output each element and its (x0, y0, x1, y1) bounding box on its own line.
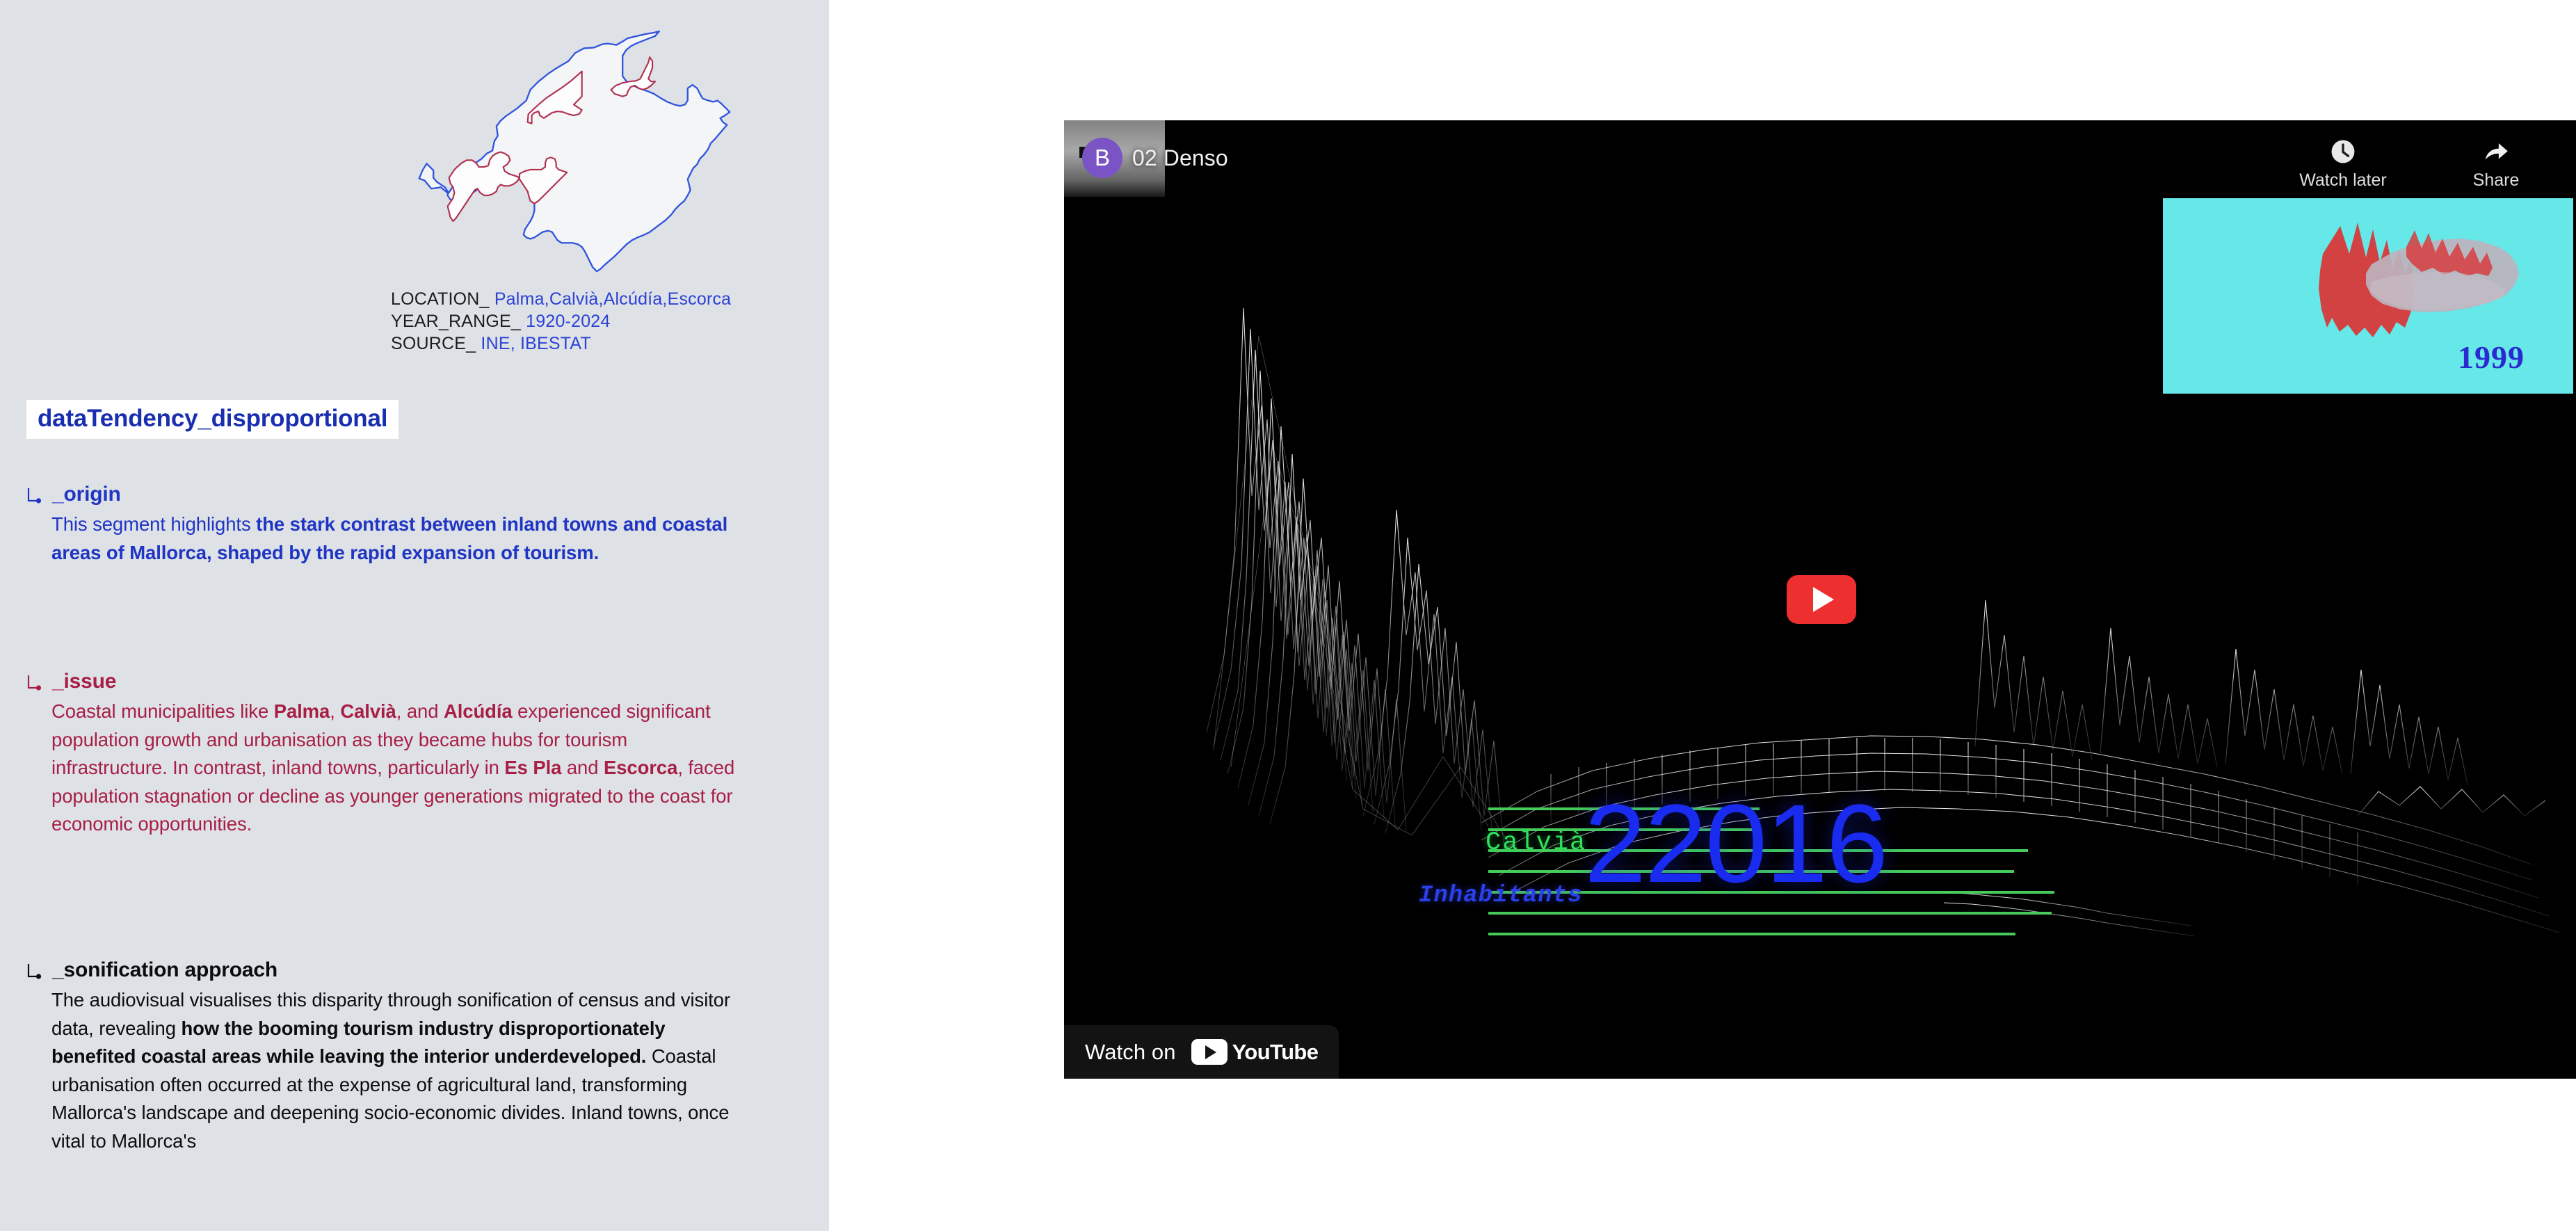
sidebar-panel: LOCATION_ Palma,Calvià,Alcúdía,Escorca Y… (0, 0, 829, 1231)
text-run: Coastal municipalities like (51, 700, 274, 722)
metadata-value-source: INE, IBESTAT (481, 334, 590, 353)
metadata-key-source: SOURCE_ (391, 334, 476, 353)
play-button[interactable] (1787, 575, 1856, 624)
inset-year-label: 1999 (2458, 339, 2525, 376)
population-value: 22016 (1584, 788, 1887, 899)
section-issue: _issue Coastal municipalities like Palma… (26, 670, 746, 839)
section-issue-heading: _issue (26, 670, 746, 693)
youtube-wordmark: YouTube (1232, 1040, 1319, 1065)
play-triangle-icon (1813, 587, 1834, 612)
youtube-video-embed[interactable]: B 02 Denso Watch later (1064, 120, 2576, 1079)
youtube-logo: YouTube (1191, 1039, 1319, 1065)
section-origin: _origin This segment highlights the star… (26, 483, 746, 567)
section-origin-heading-label: _origin (52, 483, 121, 506)
watch-later-button[interactable]: Watch later (2291, 137, 2395, 191)
corner-arrow-icon (26, 487, 43, 505)
text-run-bold: Palma (274, 700, 330, 722)
section-origin-heading: _origin (26, 483, 746, 506)
section-sonification-body: The audiovisual visualises this disparit… (51, 986, 746, 1155)
section-issue-body: Coastal municipalities like Palma, Calvi… (51, 698, 746, 839)
section-origin-body: This segment highlights the stark contra… (51, 510, 746, 567)
metadata-row-source: SOURCE_ INE, IBESTAT (391, 332, 808, 355)
text-run: This segment highlights (51, 513, 256, 535)
share-arrow-icon (2481, 137, 2511, 166)
text-run: , (330, 700, 340, 722)
unit-label: Inhabitants (1419, 883, 1582, 909)
watch-on-youtube-button[interactable]: Watch on YouTube (1064, 1025, 1339, 1079)
metadata-row-year-range: YEAR_RANGE_ 1920-2024 (391, 310, 808, 332)
municipality-label: Calvià (1486, 828, 1586, 858)
section-issue-heading-label: _issue (52, 670, 116, 693)
text-run-bold: Alcúdía (444, 700, 513, 722)
corner-arrow-icon (26, 963, 43, 981)
watch-on-label: Watch on (1085, 1040, 1176, 1065)
text-run-bold: Calvià (340, 700, 396, 722)
text-run: , and (396, 700, 444, 722)
page-root: LOCATION_ Palma,Calvià,Alcúdía,Escorca Y… (0, 0, 2576, 1231)
video-actions: Watch later Share (2291, 137, 2548, 191)
dataset-metadata: LOCATION_ Palma,Calvià,Alcúdía,Escorca Y… (391, 288, 808, 355)
section-sonification-heading-label: _sonification approach (52, 958, 277, 982)
share-label: Share (2473, 170, 2520, 191)
metadata-value-year-range: 1920-2024 (526, 312, 610, 331)
section-sonification-heading: _sonification approach (26, 958, 746, 982)
metadata-value-location: Palma,Calvià,Alcúdía,Escorca (494, 289, 731, 309)
youtube-play-icon (1191, 1039, 1227, 1065)
corner-arrow-icon (26, 674, 43, 692)
inset-preview-panel: 1999 (2163, 198, 2573, 394)
metadata-row-location: LOCATION_ Palma,Calvià,Alcúdía,Escorca (391, 288, 808, 310)
video-title[interactable]: 02 Denso (1132, 145, 1228, 171)
metadata-key-year-range: YEAR_RANGE_ (391, 312, 521, 331)
main-content: B 02 Denso Watch later (829, 0, 2576, 1231)
page-title-label: dataTendency_disproportional (38, 405, 387, 432)
video-header: B 02 Denso (1064, 120, 1228, 178)
clock-icon (2328, 137, 2358, 166)
page-title: dataTendency_disproportional (26, 400, 399, 439)
section-sonification-approach: _sonification approach The audiovisual v… (26, 958, 746, 1155)
watch-later-label: Watch later (2299, 170, 2387, 191)
text-run: and (561, 757, 604, 778)
text-run-bold: Escorca (604, 757, 677, 778)
share-button[interactable]: Share (2444, 137, 2548, 191)
channel-avatar[interactable]: B (1082, 138, 1122, 178)
text-run-bold: Es Pla (504, 757, 561, 778)
metadata-key-location: LOCATION_ (391, 289, 490, 309)
mallorca-municipalities-map (379, 6, 768, 277)
